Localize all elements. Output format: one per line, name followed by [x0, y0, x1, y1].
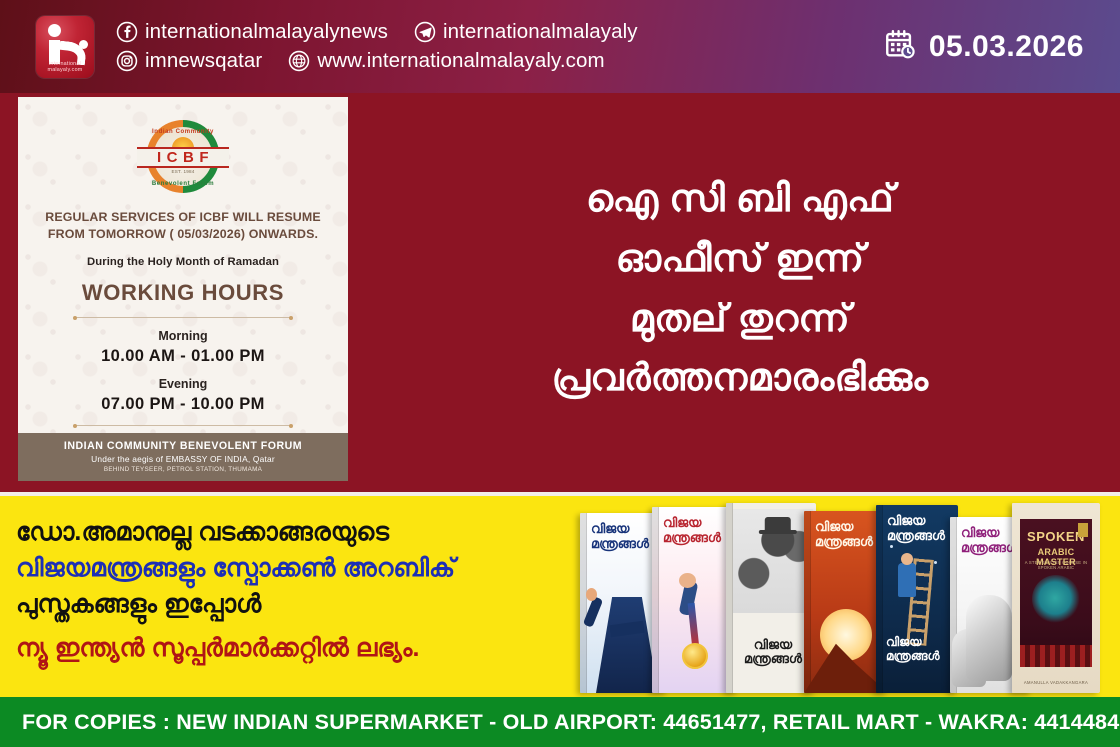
calendar-clock-icon [883, 27, 917, 66]
poster-headline: REGULAR SERVICES OF ICBF WILL RESUME FRO… [33, 209, 333, 243]
social-handle-instagram[interactable]: imnewsqatar [116, 49, 262, 73]
instagram-handle-label: imnewsqatar [145, 49, 262, 73]
bowler-hat-brim [759, 530, 797, 534]
book-cover-7: SPOKEN ARABIC MASTER A STEP BY STEP COUR… [1012, 503, 1100, 693]
book-cover-5: വിജയ മന്ത്രങ്ങൾ വിജയ മന്ത്രങ്ങൾ [876, 505, 958, 693]
graduate-hand [586, 588, 597, 601]
icbf-letter-b: B [183, 149, 194, 166]
brand-logo: international malayaly.com [36, 16, 94, 78]
slot-time-morning: 10.00 AM - 01.00 PM [101, 347, 265, 366]
logo-small-dot [79, 40, 88, 49]
arabic-calligraphy-graphic [1032, 575, 1080, 623]
slot-label-morning: Morning [158, 329, 207, 343]
main-content: Indian Community I C B F EST. 1984 Benev… [0, 93, 1120, 492]
sunrise-graphic [820, 609, 872, 661]
publication-date: 05.03.2026 [883, 27, 1084, 66]
ad-line-3: പുസ്തകങ്ങളും ഇപ്പോൾ [16, 588, 586, 620]
book-spine [804, 511, 811, 693]
icbf-letter-f: F [199, 149, 209, 166]
telegram-icon [414, 21, 436, 43]
decorative-band [1020, 645, 1092, 667]
poster-footer: INDIAN COMMUNITY BENEVOLENT FORUM Under … [18, 433, 348, 481]
book-title-5b: വിജയ മന്ത്രങ്ങൾ [886, 636, 958, 663]
book-covers: വിജയ മന്ത്രങ്ങൾ വിജയ മന്ത്രങ്ങൾ വിജയ [580, 503, 1100, 693]
headline-line-1: ഐ സി ബി എഫ് [586, 173, 894, 227]
poster-divider-top [75, 317, 291, 318]
contact-footer-bar: FOR COPIES : NEW INDIAN SUPERMARKET - OL… [0, 697, 1120, 747]
icbf-logo-arc-bottom: Benevolent Forum [135, 181, 231, 187]
publisher-badge-icon [1078, 523, 1088, 537]
poster-divider-bottom [75, 425, 291, 426]
ad-copy: ഡോ.അമാനുല്ല വടക്കാങ്ങരയുടെ വിജയമന്ത്രങ്ങ… [16, 516, 586, 664]
book-advertisement: ഡോ.അമാനുല്ല വടക്കാങ്ങരയുടെ വിജയമന്ത്രങ്ങ… [0, 496, 1120, 697]
slot-label-evening: Evening [159, 377, 208, 391]
slot-time-evening: 07.00 PM - 10.00 PM [101, 395, 265, 414]
instagram-icon [116, 50, 138, 72]
poster-footer-address: BEHIND TEYSEER, PETROL STATION, THUMAMA [24, 466, 342, 473]
facebook-handle-label: internationalmalayalynews [145, 20, 388, 44]
book-title-2: വിജയ മന്ത്രങ്ങൾ [663, 516, 734, 545]
icbf-logo-letter-plate: I C B F [137, 147, 229, 168]
ad-line-1: ഡോ.അമാനുല്ല വടക്കാങ്ങരയുടെ [16, 516, 586, 548]
logo-wordmark: international malayaly.com [36, 61, 94, 73]
star-speck [934, 561, 937, 564]
climbing-figure [898, 563, 916, 597]
social-handles-row-2: imnewsqatar www.internationalmalayaly.co… [116, 49, 883, 73]
telegram-handle-label: internationalmalayaly [443, 20, 638, 44]
headline-line-4: പ്രവർത്തനമാരംഭിക്കും [552, 352, 929, 406]
social-handle-telegram[interactable]: internationalmalayaly [414, 20, 638, 44]
logo-wordmark-line2: malayaly.com [36, 67, 94, 73]
social-handle-website[interactable]: www.internationalmalayaly.com [288, 49, 604, 73]
globe-icon [288, 50, 310, 72]
medal-icon [682, 643, 708, 669]
social-handle-facebook[interactable]: internationalmalayalynews [116, 20, 388, 44]
book-tagline-7: A STEP BY STEP COURSE IN SPOKEN ARABIC [1020, 560, 1092, 570]
ad-line-2: വിജയമന്ത്രങ്ങളും സ്പോക്കൺ അറബിക് [16, 552, 586, 584]
facebook-icon [116, 21, 138, 43]
news-graphic-page: international malayaly.com international… [0, 0, 1120, 747]
poster-title: WORKING HOURS [82, 280, 284, 306]
graduate-figure [596, 597, 658, 693]
book-spine [726, 503, 733, 693]
logo-dot [48, 24, 61, 37]
book-title-4: വിജയ മന്ത്രങ്ങൾ [815, 520, 884, 549]
bowler-hat-icon [765, 517, 791, 531]
medal-hand [679, 573, 696, 588]
climbing-figure-head [901, 553, 913, 565]
ad-line-4: ന്യൂ ഇന്ത്യൻ സൂപ്പർമാർക്കറ്റിൽ ലഭ്യം. [16, 632, 586, 664]
icbf-poster: Indian Community I C B F EST. 1984 Benev… [18, 97, 348, 481]
poster-footer-aegis: Under the aegis of EMBASSY OF INDIA, Qat… [24, 454, 342, 464]
book-author-7: AMANULLA VADAKKANGARA [1012, 680, 1100, 685]
book-title-3: വിജയ മന്ത്രങ്ങൾ [734, 638, 812, 667]
icbf-logo-arc-top: Indian Community [135, 129, 231, 135]
headline-line-2: ഓഫീസ് ഇന്ന് [616, 233, 865, 287]
website-handle-label: www.internationalmalayaly.com [317, 49, 604, 73]
book-spine [652, 507, 659, 693]
social-handles: internationalmalayalynews internationalm… [116, 20, 883, 73]
icbf-logo: Indian Community I C B F EST. 1984 Benev… [135, 120, 231, 193]
icbf-letter-i: I [157, 149, 162, 166]
star-speck [890, 545, 893, 548]
book-spine [580, 513, 587, 693]
social-handles-row-1: internationalmalayalynews internationalm… [116, 20, 883, 44]
icbf-letter-c: C [167, 149, 178, 166]
chess-piece-icon [966, 595, 1012, 681]
icbf-logo-sub: EST. 1984 [135, 169, 231, 174]
date-text: 05.03.2026 [929, 30, 1084, 64]
header-bar: international malayaly.com international… [0, 0, 1120, 93]
book-title-5: വിജയ മന്ത്രങ്ങൾ [887, 514, 954, 543]
poster-subheadline: During the Holy Month of Ramadan [87, 256, 279, 268]
book-spine [876, 505, 883, 693]
contact-footer-text: FOR COPIES : NEW INDIAN SUPERMARKET - OL… [22, 710, 1120, 735]
poster-footer-org: INDIAN COMMUNITY BENEVOLENT FORUM [24, 440, 342, 452]
main-headline: ഐ സി ബി എഫ് ഓഫീസ് ഇന്ന് മുതല് തുറന്ന് പ്… [370, 93, 1110, 492]
book-cover-3: വിജയ മന്ത്രങ്ങൾ [726, 503, 816, 693]
headline-line-3: മുതല് തുറന്ന് [630, 293, 850, 347]
